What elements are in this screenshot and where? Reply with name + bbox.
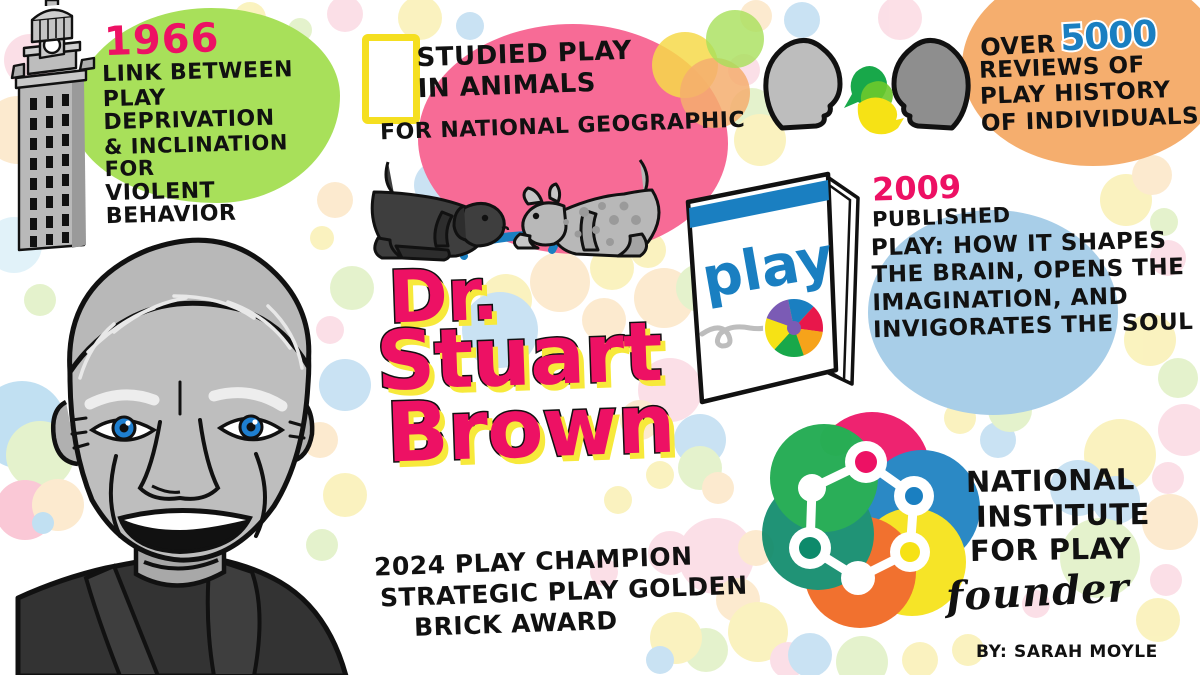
institute-line-2: INSTITUTE <box>976 499 1196 532</box>
speech-bubble-yellow <box>858 97 904 134</box>
reviews-line-3: OF INDIVIDUALS <box>981 105 1200 136</box>
poster-canvas: 1966 LINK BETWEEN PLAY DEPRIVATION & INC… <box>0 0 1200 675</box>
milestone-1966-year: 1966 <box>103 14 344 62</box>
award-block: 2024 PLAY CHAMPION STRATEGIC PLAY GOLDEN… <box>374 548 754 635</box>
page-title: Dr. Stuart Brown <box>382 258 762 465</box>
reviews-count: 5000 <box>1059 19 1157 56</box>
reviews-block: OVER 5000 REVIEWS OF PLAY HISTORY OF IND… <box>980 22 1200 152</box>
head-profile-left <box>766 40 840 128</box>
book-title-line-2: THE BRAIN, OPENS THE <box>871 257 1198 289</box>
institute-block: NATIONAL INSTITUTE FOR PLAY founder <box>966 466 1196 614</box>
published-2009-block: 2009 PUBLISHED PLAY: HOW IT SHAPES THE B… <box>872 168 1198 388</box>
two-head-profiles-illustration <box>752 18 982 158</box>
milestone-1966-line-1: LINK BETWEEN <box>102 58 343 87</box>
national-geographic-logo <box>362 34 420 124</box>
milestone-1966-line-2: PLAY DEPRIVATION <box>103 83 344 134</box>
page-title-line-3: Brown <box>385 383 763 472</box>
milestone-1966-line-3: & INCLINATION FOR <box>104 131 345 180</box>
credit-line: BY: SARAH MOYLE <box>976 644 1158 661</box>
stuart-brown-portrait <box>28 206 358 675</box>
book-title-line-4: INVIGORATES THE SOUL <box>873 311 1200 343</box>
beach-ball <box>764 298 824 358</box>
institute-role-founder: founder <box>945 560 1197 620</box>
head-profile-right <box>894 40 968 128</box>
institute-line-1: NATIONAL <box>966 464 1196 498</box>
milestone-1966-block: 1966 LINK BETWEEN PLAY DEPRIVATION & INC… <box>104 18 344 198</box>
